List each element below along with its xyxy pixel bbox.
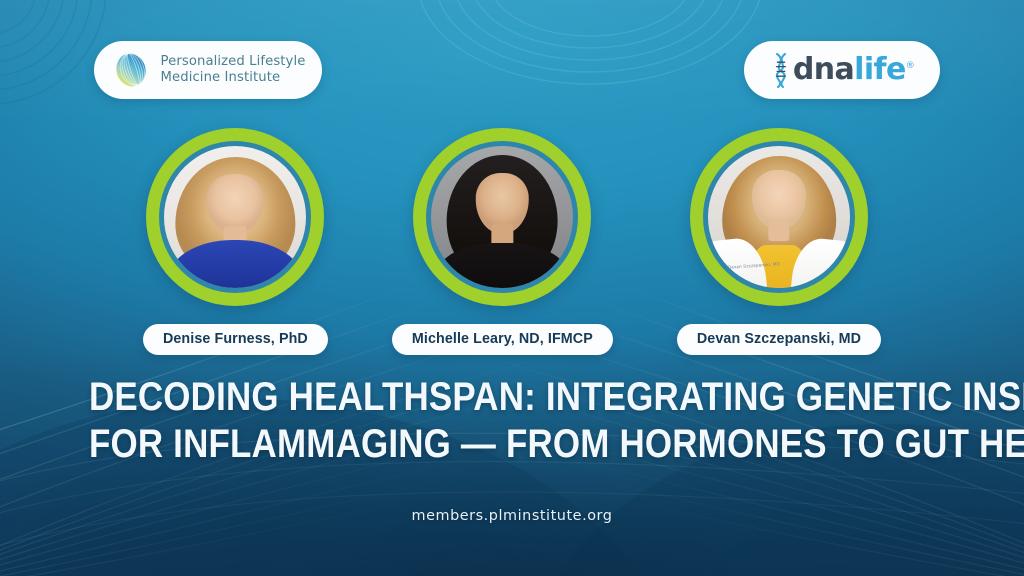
portrait-michelle-leary (431, 146, 573, 288)
speakers-row: Denise Furness, PhD Michelle Leary, ND, … (0, 128, 1024, 355)
speaker-name-pill: Devan Szczepanski, MD (677, 324, 881, 355)
dnalife-word-dna: dna (793, 52, 854, 87)
concentric-arcs-top-left (0, 0, 106, 104)
portrait-devan-szczepanski: Devan Szczepanski, MD (708, 146, 850, 288)
portrait-ring: Devan Szczepanski, MD (690, 128, 868, 306)
gradient-sphere-icon (111, 50, 151, 90)
dnalife-word-life: life (854, 52, 906, 87)
plmi-logo-text: Personalized Lifestyle Medicine Institut… (161, 54, 306, 85)
dnalife-trademark: ® (906, 61, 914, 71)
portrait-ring-inner (426, 141, 578, 293)
portrait-ring (413, 128, 591, 306)
plmi-logo-line1: Personalized Lifestyle (161, 54, 306, 69)
concentric-arcs-top-center (418, 0, 762, 84)
site-url[interactable]: members.plminstitute.org (0, 508, 1024, 524)
dnalife-logo-text: dnalife® (793, 55, 914, 85)
portrait-ring-inner (159, 141, 311, 293)
portrait-ring (146, 128, 324, 306)
plmi-logo-pill[interactable]: Personalized Lifestyle Medicine Institut… (94, 41, 322, 99)
webinar-promo-banner: Personalized Lifestyle Medicine Institut… (0, 0, 1024, 576)
speaker-name-pill: Denise Furness, PhD (143, 324, 328, 355)
dnalife-logo-pill[interactable]: dnalife® (744, 41, 940, 99)
speaker-card: Denise Furness, PhD (143, 128, 328, 355)
speaker-card: Michelle Leary, ND, IFMCP (392, 128, 613, 355)
title-line-2: FOR INFLAMMAGING — FROM HORMONES TO GUT … (89, 421, 935, 468)
plmi-logo-line2: Medicine Institute (161, 70, 306, 86)
speaker-name-pill: Michelle Leary, ND, IFMCP (392, 324, 613, 355)
webinar-title: DECODING HEALTHSPAN: INTEGRATING GENETIC… (0, 374, 1024, 468)
title-line-1: DECODING HEALTHSPAN: INTEGRATING GENETIC… (89, 374, 935, 421)
speaker-card: Devan Szczepanski, MD Devan Szczepanski,… (677, 128, 881, 355)
portrait-denise-furness (164, 146, 306, 288)
portrait-ring-inner: Devan Szczepanski, MD (703, 141, 855, 293)
dna-helix-icon (770, 51, 792, 89)
